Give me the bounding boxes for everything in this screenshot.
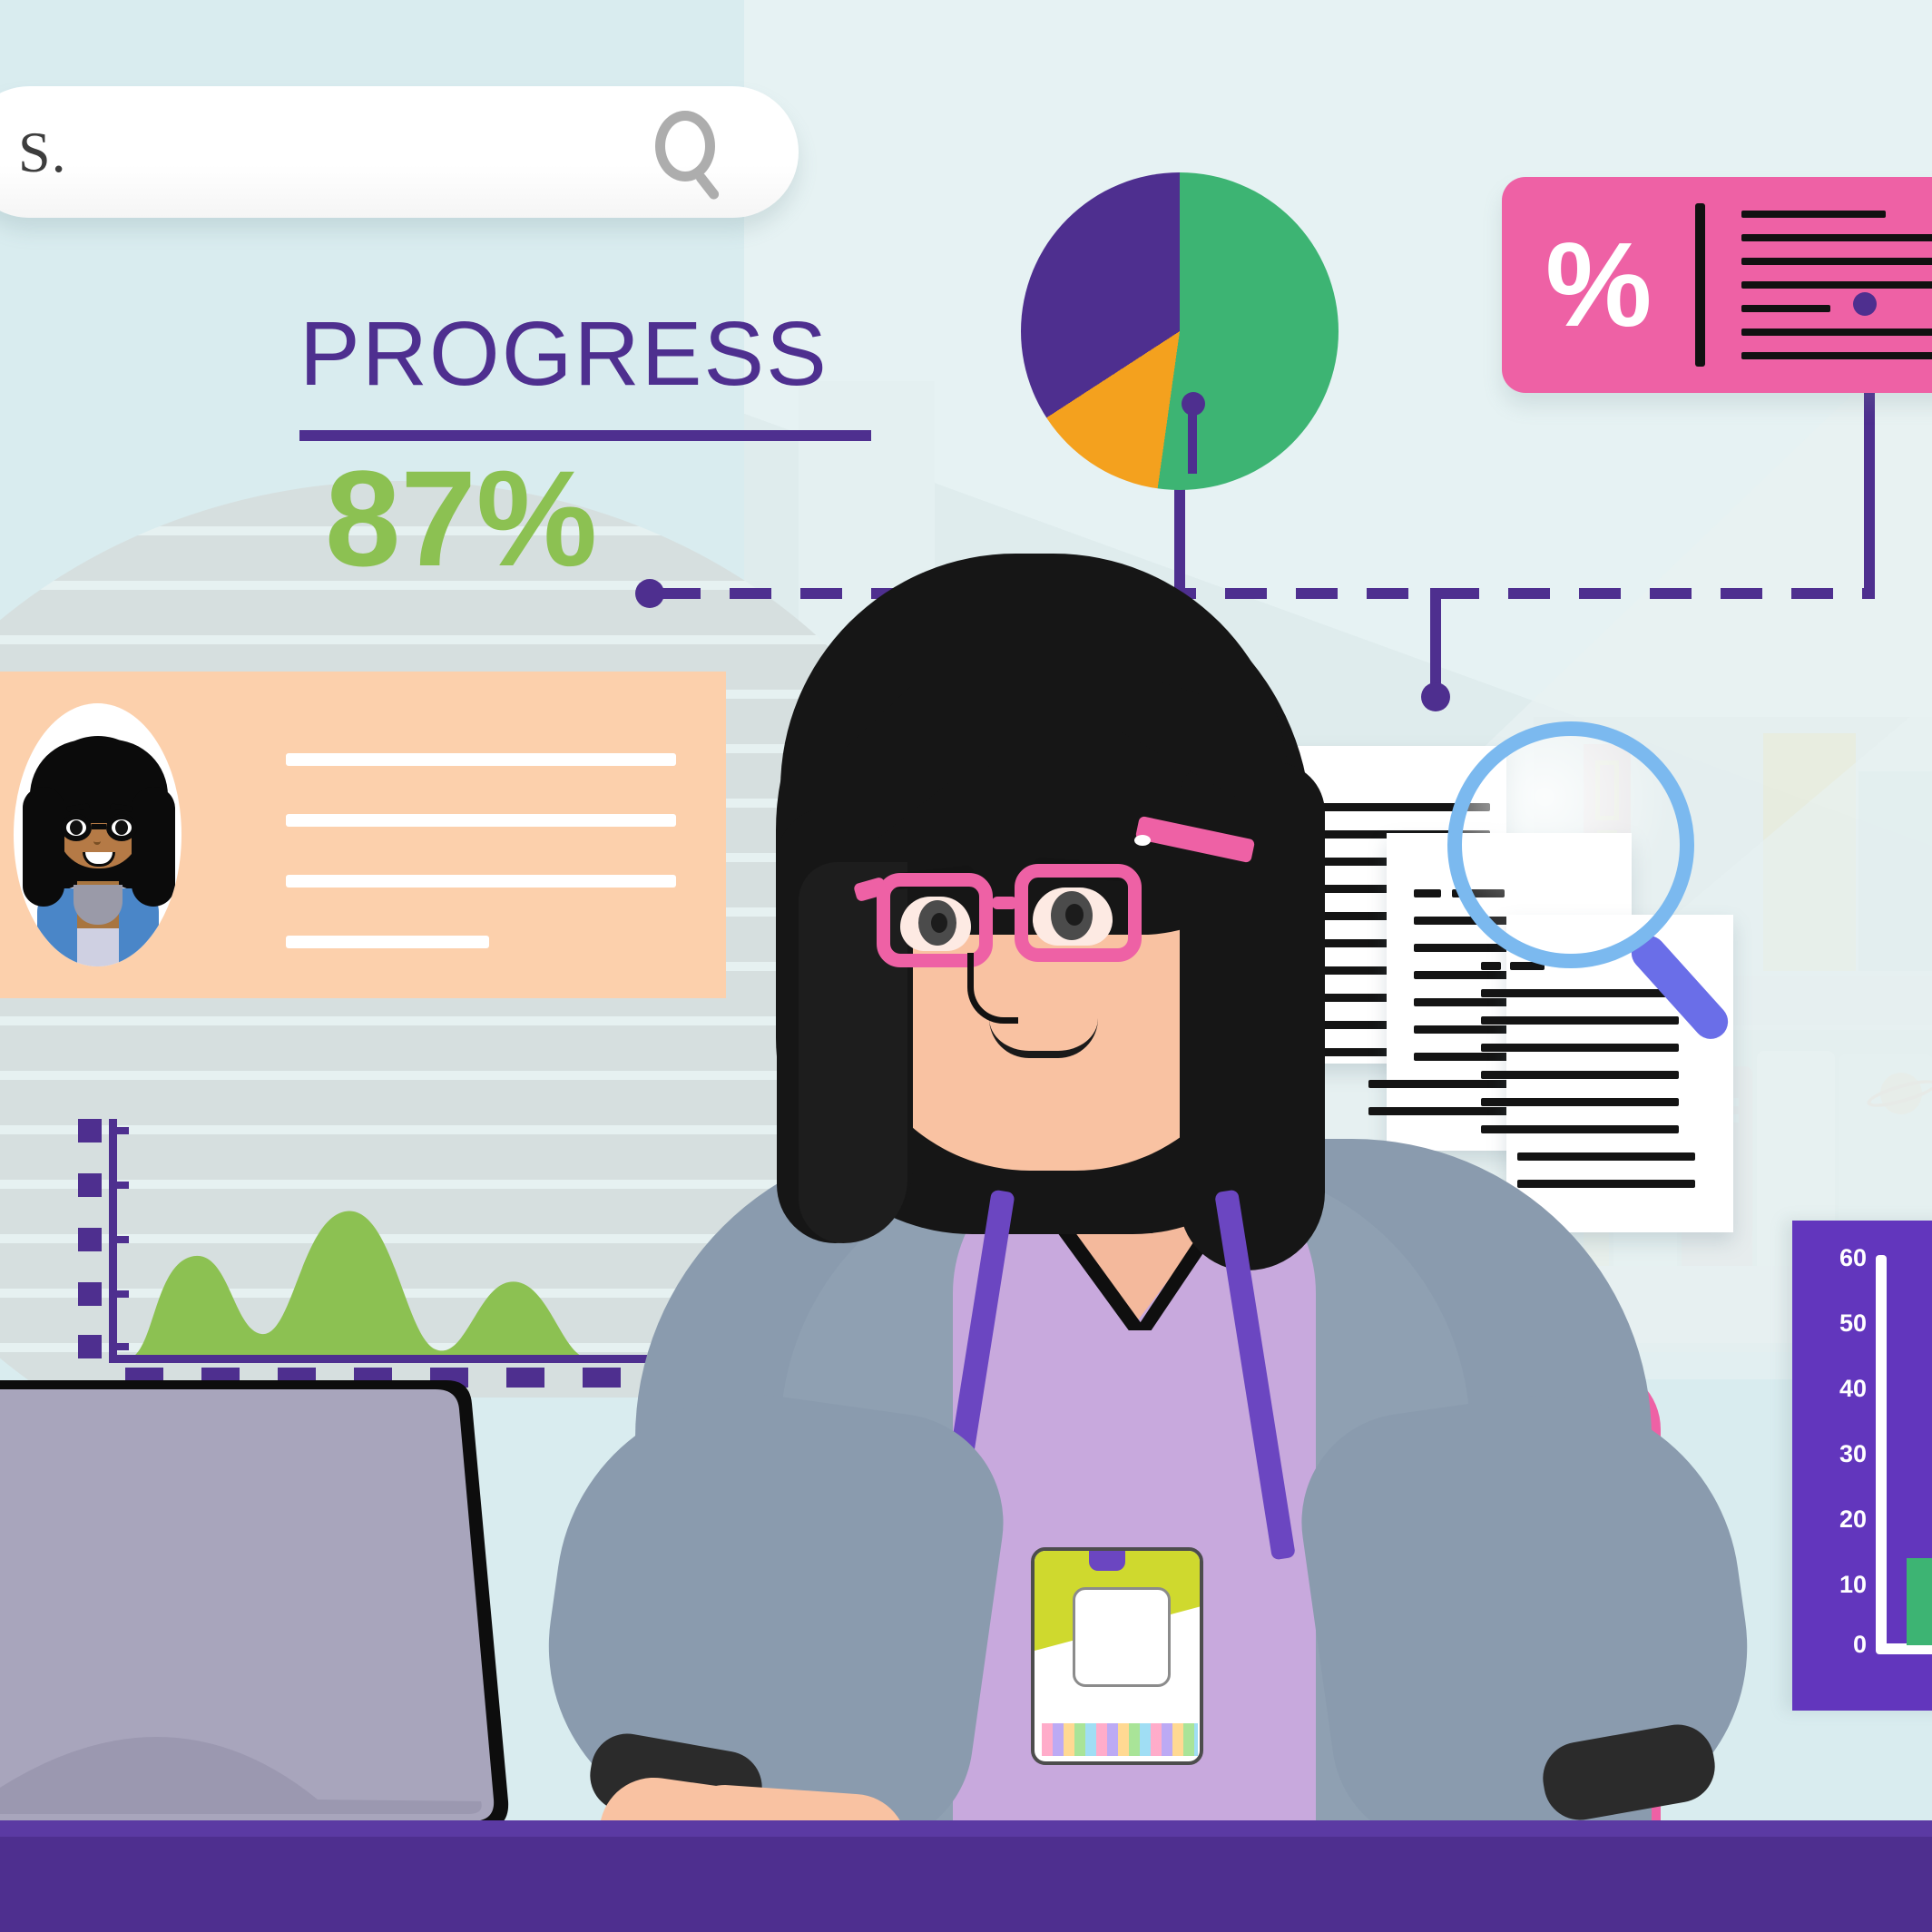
percent-symbol: % [1502, 225, 1652, 345]
bar-chart-y-tick-label: 0 [1812, 1631, 1867, 1659]
percent-card-text-lines [1705, 211, 1932, 359]
bar-chart-y-tick-label: 30 [1812, 1440, 1867, 1468]
bar-chart-bar [1907, 1558, 1932, 1645]
profile-card-text-lines [286, 753, 676, 948]
id-badge-icon [1031, 1547, 1203, 1765]
illustration-canvas: S. PROGRESS 87% % [0, 0, 1932, 1932]
desk-edge [0, 1820, 1932, 1837]
percent-card[interactable]: % [1502, 177, 1932, 393]
percent-card-divider [1695, 203, 1705, 367]
bar-chart-y-tick-label: 10 [1812, 1571, 1867, 1599]
progress-percentage: 87% [325, 450, 898, 586]
desk-surface [0, 1837, 1932, 1932]
bar-chart: 60 50 40 30 20 10 0 slide [1792, 1221, 1932, 1711]
percent-card-connector-dot [1853, 292, 1877, 316]
area-chart-y-tick [78, 1228, 102, 1251]
bar-chart-y-axis [1876, 1255, 1887, 1650]
connector-line-to-pie [1174, 485, 1185, 592]
search-bar[interactable]: S. [0, 86, 799, 218]
pie-chart [1021, 172, 1339, 490]
bar-chart-y-tick-label: 40 [1812, 1375, 1867, 1403]
character-illustration [690, 653, 1597, 1932]
laptop[interactable] [0, 1375, 672, 1883]
bar-chart-y-tick-label: 60 [1812, 1244, 1867, 1272]
progress-block: PROGRESS 87% [299, 309, 898, 586]
area-chart-y-tick [78, 1173, 102, 1197]
title-underline [299, 430, 871, 441]
pie-chart-stem [1188, 408, 1197, 474]
connector-line-horizontal [659, 588, 1875, 599]
search-input[interactable]: S. [18, 119, 67, 186]
bar-chart-y-tick-label: 20 [1812, 1505, 1867, 1534]
search-icon[interactable] [652, 111, 735, 194]
profile-card[interactable] [0, 672, 726, 998]
page-title: PROGRESS [299, 309, 898, 399]
bar-chart-y-tick-label: 50 [1812, 1309, 1867, 1338]
area-chart-y-tick [78, 1282, 102, 1306]
area-chart-y-tick [78, 1335, 102, 1358]
connector-line-to-percent-card [1864, 392, 1875, 593]
area-chart-y-tick [78, 1119, 102, 1143]
avatar [14, 703, 181, 966]
